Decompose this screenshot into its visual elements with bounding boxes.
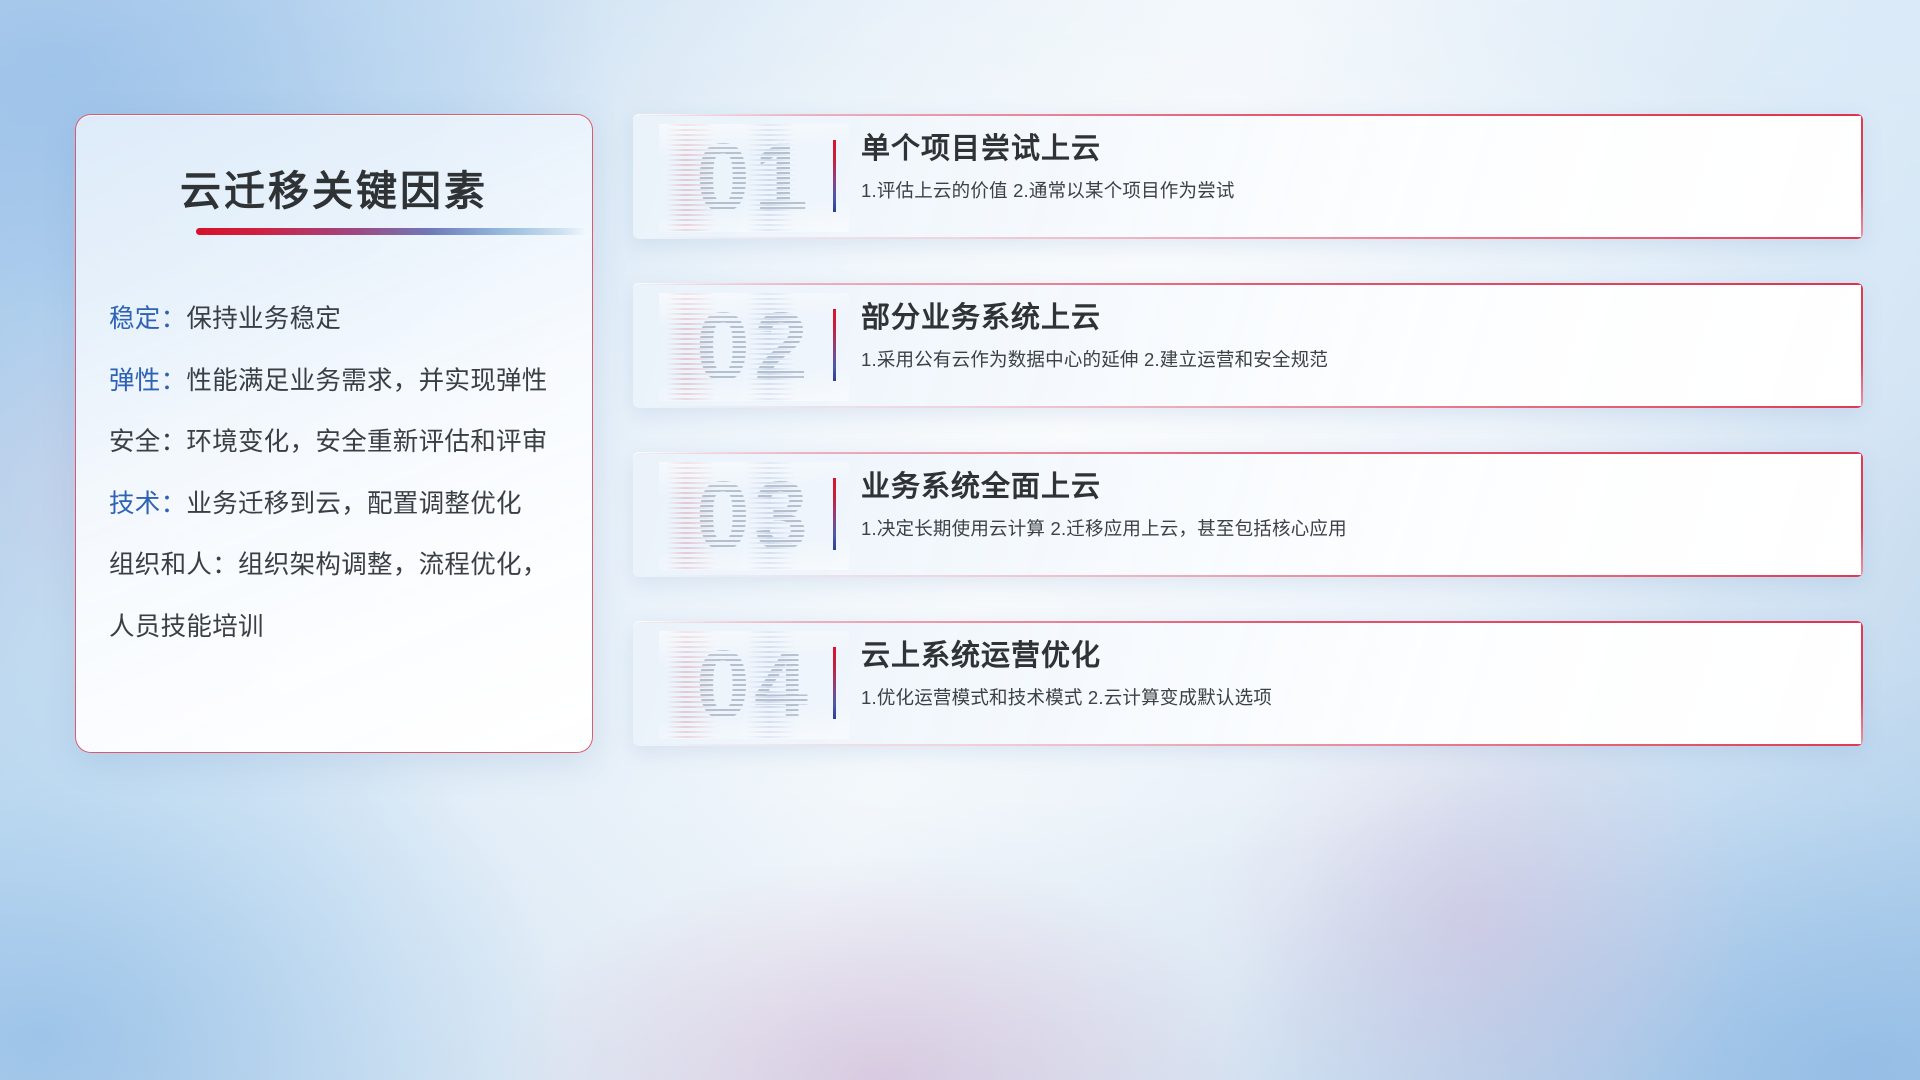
key-factor-label: 弹性： [109, 367, 186, 395]
card-step-number-text: 01 [696, 122, 812, 234]
card-text-block: 单个项目尝试上云1.评估上云的价值 2.通常以某个项目作为尝试 [861, 132, 1839, 203]
key-factor-item: 稳定：保持业务稳定 [109, 307, 568, 333]
card-accent-bar [833, 309, 836, 381]
card-title: 部分业务系统上云 [861, 301, 1839, 336]
card-bottom-border [633, 744, 1863, 746]
card-top-border [633, 114, 1863, 116]
card-bottom-border [633, 237, 1863, 239]
card-right-border [1861, 621, 1863, 746]
slide-stage: 云迁移关键因素 稳定：保持业务稳定弹性：性能满足业务需求，并实现弹性安全：环境变… [0, 0, 1920, 1080]
key-factors-panel: 云迁移关键因素 稳定：保持业务稳定弹性：性能满足业务需求，并实现弹性安全：环境变… [75, 114, 593, 753]
key-factor-item: 弹性：性能满足业务需求，并实现弹性 [109, 369, 568, 395]
card-bottom-border [633, 575, 1863, 577]
key-factor-value: 人员技能培训 [109, 613, 264, 641]
migration-stage-cards: 01单个项目尝试上云1.评估上云的价值 2.通常以某个项目作为尝试02部分业务系… [633, 114, 1863, 746]
key-factor-value: 性能满足业务需求，并实现弹性 [186, 367, 547, 395]
key-factor-item: 技术：业务迁移到云，配置调整优化 [109, 492, 568, 518]
card-title: 云上系统运营优化 [861, 639, 1839, 674]
card-step-number: 04 [659, 631, 849, 739]
card-text-block: 业务系统全面上云1.决定长期使用云计算 2.迁移应用上云，甚至包括核心应用 [861, 470, 1839, 541]
card-accent-bar [833, 478, 836, 550]
key-factor-item: 人员技能培训 [109, 615, 568, 641]
key-factors-list: 稳定：保持业务稳定弹性：性能满足业务需求，并实现弹性安全：环境变化，安全重新评估… [109, 307, 568, 640]
card-right-border [1861, 283, 1863, 408]
card-text-block: 云上系统运营优化1.优化运营模式和技术模式 2.云计算变成默认选项 [861, 639, 1839, 710]
key-factor-label: 稳定： [109, 305, 186, 333]
card-subtitle: 1.采用公有云作为数据中心的延伸 2.建立运营和安全规范 [861, 346, 1839, 372]
card-step-number: 03 [659, 462, 849, 570]
card-accent-bar [833, 140, 836, 212]
card-bottom-border [633, 406, 1863, 408]
card-right-border [1861, 452, 1863, 577]
card-title: 业务系统全面上云 [861, 470, 1839, 505]
card-title: 单个项目尝试上云 [861, 132, 1839, 167]
card-text-block: 部分业务系统上云1.采用公有云作为数据中心的延伸 2.建立运营和安全规范 [861, 301, 1839, 372]
key-factor-value: 环境变化，安全重新评估和评审 [186, 428, 547, 456]
card-subtitle: 1.优化运营模式和技术模式 2.云计算变成默认选项 [861, 684, 1839, 710]
card-step-number-text: 03 [696, 460, 812, 572]
stage-card[interactable]: 03业务系统全面上云1.决定长期使用云计算 2.迁移应用上云，甚至包括核心应用 [633, 452, 1863, 577]
key-factor-item: 组织和人：组织架构调整，流程优化， [109, 553, 568, 579]
card-top-border [633, 283, 1863, 285]
key-factor-label: 技术： [109, 490, 186, 518]
key-factor-value: 业务迁移到云，配置调整优化 [186, 490, 521, 518]
key-factor-label: 安全： [109, 428, 186, 456]
card-step-number-text: 04 [696, 629, 812, 741]
stage-card[interactable]: 01单个项目尝试上云1.评估上云的价值 2.通常以某个项目作为尝试 [633, 114, 1863, 239]
card-accent-bar [833, 647, 836, 719]
card-step-number: 01 [659, 124, 849, 232]
stage-card[interactable]: 04云上系统运营优化1.优化运营模式和技术模式 2.云计算变成默认选项 [633, 621, 1863, 746]
card-top-border [633, 452, 1863, 454]
card-step-number-text: 02 [696, 291, 812, 403]
stage-card[interactable]: 02部分业务系统上云1.采用公有云作为数据中心的延伸 2.建立运营和安全规范 [633, 283, 1863, 408]
key-factor-item: 安全：环境变化，安全重新评估和评审 [109, 430, 568, 456]
page-title: 云迁移关键因素 [76, 157, 592, 217]
key-factor-value: 组织架构调整，流程优化， [238, 551, 548, 579]
key-factor-value: 保持业务稳定 [186, 305, 341, 333]
card-subtitle: 1.决定长期使用云计算 2.迁移应用上云，甚至包括核心应用 [861, 515, 1839, 541]
card-top-border [633, 621, 1863, 623]
card-right-border [1861, 114, 1863, 239]
card-subtitle: 1.评估上云的价值 2.通常以某个项目作为尝试 [861, 177, 1839, 203]
card-step-number: 02 [659, 293, 849, 401]
key-factor-label: 组织和人： [109, 551, 238, 579]
title-underline-rule [196, 228, 586, 235]
